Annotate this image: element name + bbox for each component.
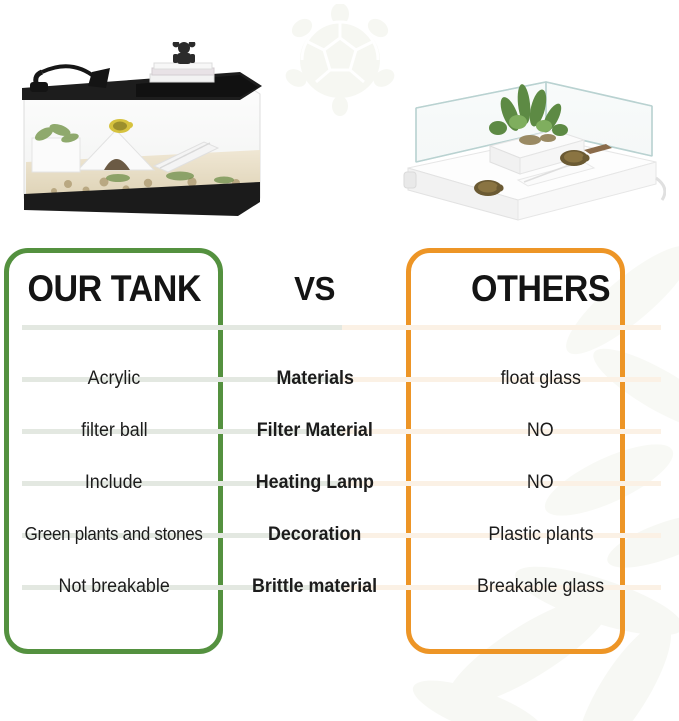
- table-row: Not breakable Brittle material Breakable…: [0, 564, 679, 609]
- table-row: Include Heating Lamp NO: [0, 460, 679, 505]
- feature-label: Decoration: [228, 524, 402, 546]
- feature-label: Heating Lamp: [228, 472, 402, 494]
- others-value: Plastic plants: [402, 524, 679, 546]
- turtle-watermark: [272, 4, 408, 116]
- others-value: float glass: [402, 368, 679, 390]
- our-tank-value: Green plants and stones: [0, 524, 228, 545]
- our-tank-value: Include: [0, 472, 228, 494]
- others-title: OTHERS: [471, 268, 610, 310]
- comparison-table: OUR TANK VS OTHERS Acrylic Materials f: [0, 246, 679, 666]
- feature-label: Materials: [228, 368, 402, 390]
- header-cell-others: OTHERS: [402, 268, 679, 310]
- others-value: NO: [402, 472, 679, 494]
- our-tank-value: Not breakable: [0, 576, 228, 598]
- table-row: filter ball Filter Material NO: [0, 408, 679, 453]
- others-value: NO: [402, 420, 679, 442]
- vs-label: VS: [295, 270, 336, 308]
- comparison-infographic: OUR TANK VS OTHERS Acrylic Materials f: [0, 0, 679, 721]
- table-row: Acrylic Materials float glass: [0, 356, 679, 401]
- feature-label: Brittle material: [228, 576, 402, 598]
- table-row: Green plants and stones Decoration Plast…: [0, 512, 679, 557]
- table-header-row: OUR TANK VS OTHERS: [0, 258, 679, 320]
- glass-turtle-tank-photo: [398, 42, 666, 232]
- our-tank-value: filter ball: [0, 420, 228, 442]
- others-value: Breakable glass: [402, 576, 679, 598]
- header-cell-our-tank: OUR TANK: [0, 268, 228, 310]
- acrylic-turtle-tank-photo: [8, 42, 272, 232]
- header-cell-vs: VS: [228, 270, 402, 308]
- feature-label: Filter Material: [228, 420, 402, 442]
- our-tank-title: OUR TANK: [27, 268, 200, 310]
- our-tank-value: Acrylic: [0, 368, 228, 390]
